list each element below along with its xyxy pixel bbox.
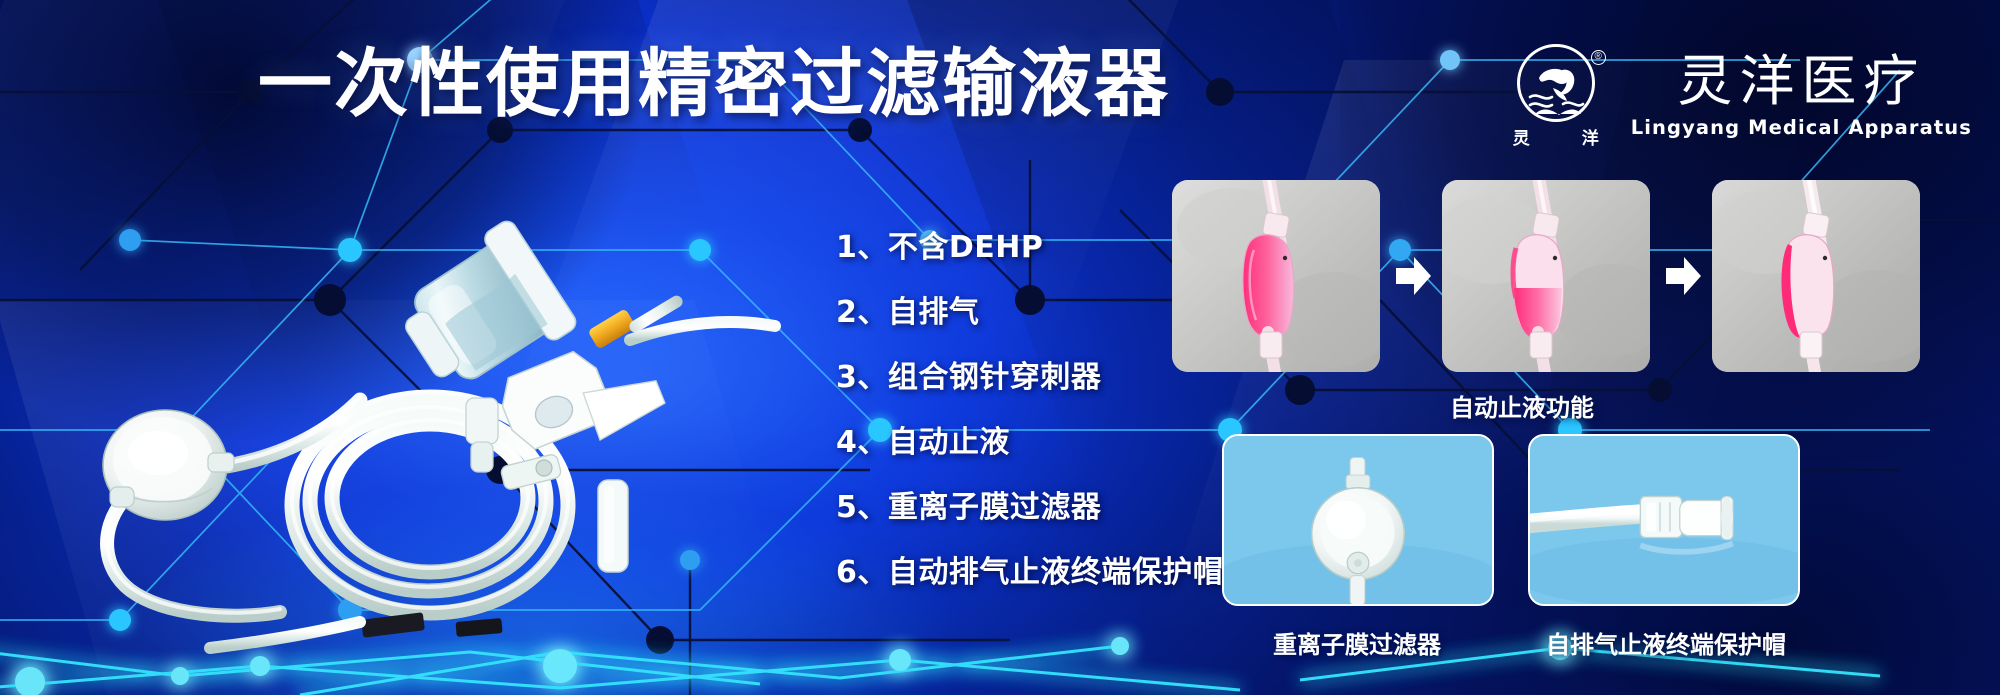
disc-filter-part xyxy=(103,410,234,520)
feature-item-5: 5、重离子膜过滤器 xyxy=(836,482,1223,526)
needle-connector-part xyxy=(466,386,498,472)
feature-item-4: 4、自动止液 xyxy=(836,417,1223,461)
arrow-right-icon-2 xyxy=(1662,253,1704,299)
feature-item-6: 6、自动排气止液终端保护帽 xyxy=(836,547,1223,591)
arrow-right-icon-1 xyxy=(1392,253,1434,299)
feature-item-2: 2、自排气 xyxy=(836,287,1223,331)
caption-self-venting-terminal-cap: 自排气止液终端保护帽 xyxy=(1546,625,1786,660)
caption-heavy-ion-membrane-filter: 重离子膜过滤器 xyxy=(1273,625,1441,660)
photo-auto-stop-step-1 xyxy=(1172,180,1380,372)
brand-text: 灵洋医疗 Lingyang Medical Apparatus xyxy=(1631,53,1972,139)
photo-auto-stop-step-2 xyxy=(1442,180,1650,372)
banner-title: 一次性使用精密过滤输液器 xyxy=(258,47,1170,121)
feature-list: 1、不含DEHP 2、自排气 3、组合钢针穿刺器 4、自动止液 5、重离子膜过滤… xyxy=(836,222,1223,591)
brand-logo: ® 灵 洋 灵洋医疗 Lingyang Medical Apparatus xyxy=(1513,44,1972,148)
feature-item-1: 1、不含DEHP xyxy=(836,222,1223,266)
feature-item-3: 3、组合钢针穿刺器 xyxy=(836,352,1223,396)
promo-banner: 一次性使用精密过滤输液器 ® 灵 洋 xyxy=(0,0,2000,695)
logo-char-ling: 灵 xyxy=(1513,124,1530,149)
photo-self-venting-terminal-cap xyxy=(1528,434,1800,606)
protector-cap-part xyxy=(598,480,628,572)
brand-name-en: Lingyang Medical Apparatus xyxy=(1631,116,1972,139)
logo-sub-characters: 灵 洋 xyxy=(1513,124,1599,149)
logo-char-yang: 洋 xyxy=(1582,124,1599,149)
iv-infusion-set-photo xyxy=(30,150,790,670)
brand-name-cn: 灵洋医疗 xyxy=(1677,53,1925,111)
photo-heavy-ion-membrane-filter xyxy=(1222,434,1494,606)
caption-auto-stop-function: 自动止液功能 xyxy=(1450,388,1594,423)
photo-auto-stop-step-3 xyxy=(1712,180,1920,372)
logo-emblem: ® 灵 洋 xyxy=(1513,44,1609,148)
registered-trademark-icon: ® xyxy=(1591,50,1606,65)
